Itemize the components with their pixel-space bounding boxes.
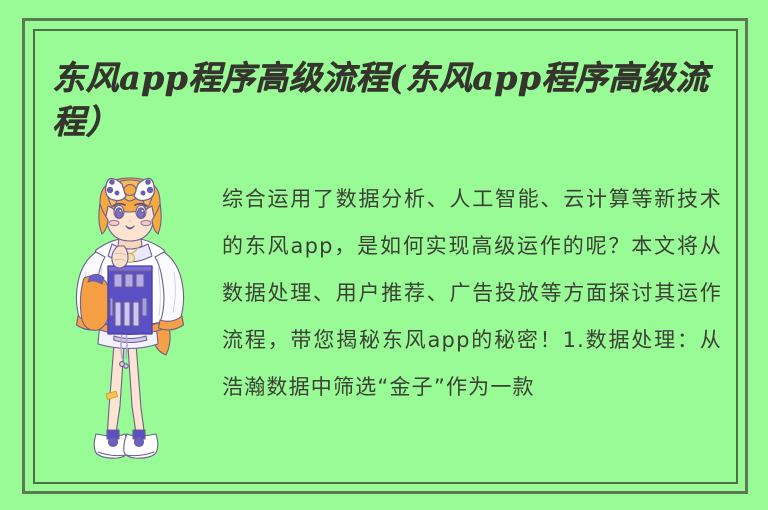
anime-girl-illustration [62, 176, 198, 472]
page-title: 东风app程序高级流程(东风app程序高级流程） [52, 56, 712, 144]
poster-canvas: 东风app程序高级流程(东风app程序高级流程） [0, 0, 768, 510]
article-body: 综合运用了数据分析、人工智能、云计算等新技术的东风app，是如何实现高级运作的呢… [222, 176, 722, 466]
